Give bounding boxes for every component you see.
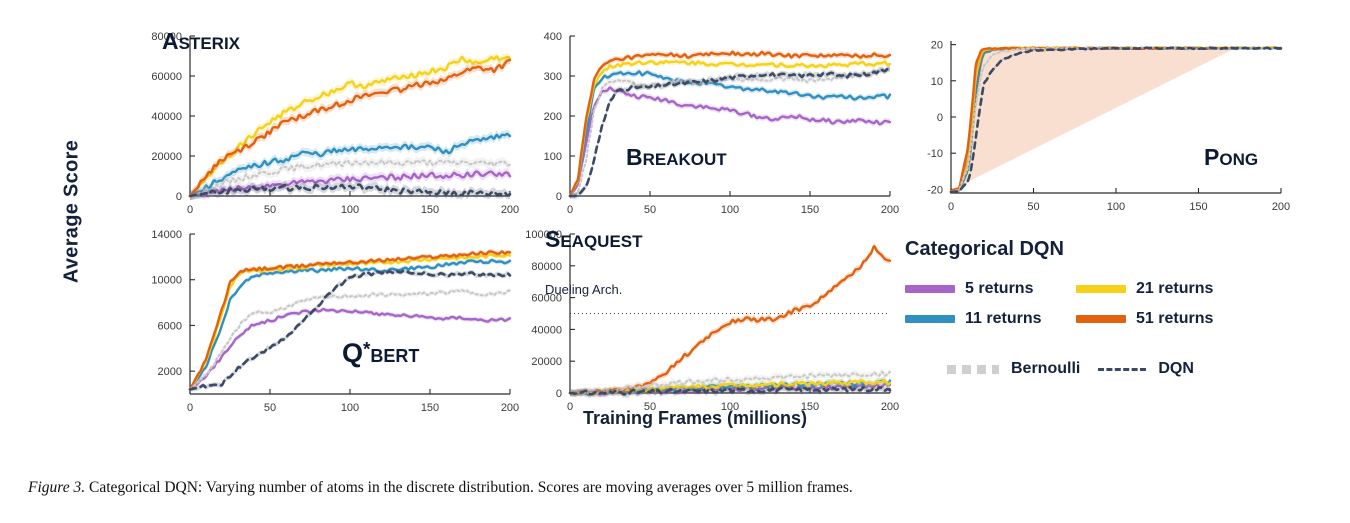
panel-title-seaquest: SEAQUEST [545,228,643,251]
legend-swatch-bernoulli [947,365,999,374]
svg-text:100: 100 [341,402,359,414]
svg-text:0: 0 [567,204,573,216]
chart-panel-qbert: 200060001000014000050100150200 [142,226,522,420]
svg-text:50: 50 [264,204,276,216]
legend-label-dqn: DQN [1158,360,1194,378]
svg-text:100: 100 [1107,201,1125,213]
svg-text:0: 0 [187,402,193,414]
svg-text:150: 150 [1189,201,1207,213]
legend-item-21-returns[interactable]: 21 returns [1076,280,1194,298]
svg-text:300: 300 [544,71,562,83]
legend-swatch-21-returns [1076,285,1126,293]
svg-text:200: 200 [501,204,519,216]
svg-text:100: 100 [721,204,739,216]
legend-entries: 5 returns 21 returns 11 returns 51 retur… [905,274,1305,334]
legend-swatch-51-returns [1076,315,1126,323]
legend-label-21-returns: 21 returns [1136,280,1213,298]
confidence-band [570,85,890,199]
svg-text:200: 200 [881,204,899,216]
chart-panel-asterix: 020000400006000080000050100150200 [142,28,522,222]
svg-text:14000: 14000 [151,229,182,241]
svg-text:10: 10 [931,76,943,88]
svg-text:20000: 20000 [151,151,182,163]
legend-title: Categorical DQN [905,238,1305,261]
panel-title-asterix: ASTERIX [162,30,240,53]
svg-text:80000: 80000 [531,261,562,273]
panel-title-pong: PONG [1204,146,1258,169]
chart-panel-pong: -20-1001020050100150200 [903,33,1293,219]
legend-baselines: Bernoulli DQN [947,360,1305,378]
caption-body: Categorical DQN: Varying number of atoms… [85,479,853,496]
chart-svg-pong: -20-1001020050100150200 [903,33,1293,219]
legend-label-11-returns: 11 returns [965,310,1041,328]
svg-text:100: 100 [341,204,359,216]
figure-caption: Figure 3. Categorical DQN: Varying numbe… [28,478,1328,498]
svg-text:20: 20 [931,40,943,52]
svg-text:10000: 10000 [151,275,182,287]
svg-text:-20: -20 [927,184,943,196]
legend-swatch-dqn [1098,368,1146,371]
svg-text:0: 0 [948,201,954,213]
legend-label-5-returns: 5 returns [965,280,1033,298]
legend-swatch-11-returns [905,315,955,323]
svg-text:200: 200 [501,402,519,414]
panel-title-qbert: Q*BERT [342,340,419,367]
svg-text:60000: 60000 [151,71,182,83]
svg-text:6000: 6000 [158,320,182,332]
svg-text:100: 100 [544,151,562,163]
legend: Categorical DQN 5 returns 21 returns 11 … [905,238,1305,378]
legend-label-bernoulli: Bernoulli [1011,360,1080,378]
chart-svg-breakout: 0100200300400050100150200 [522,28,902,222]
figure-3: Average Score 02000040000600008000005010… [0,0,1350,523]
svg-text:50: 50 [264,402,276,414]
legend-label-51-returns: 51 returns [1136,310,1213,328]
chart-panel-breakout: 0100200300400050100150200 [522,28,902,222]
legend-item-5-returns[interactable]: 5 returns [905,280,1023,298]
svg-text:200: 200 [881,401,899,413]
panel-title-breakout: BREAKOUT [626,146,727,169]
series-line-5-returns [570,88,890,196]
svg-text:0: 0 [187,204,193,216]
svg-text:200: 200 [544,111,562,123]
chart-panel-seaquest: 020000400006000080000100000050100150200 [522,226,902,419]
svg-text:50: 50 [644,204,656,216]
chart-svg-asterix: 020000400006000080000050100150200 [142,28,522,222]
x-axis-label: Training Frames (millions) [520,408,870,429]
svg-text:50: 50 [1027,201,1039,213]
svg-text:2000: 2000 [158,366,182,378]
svg-text:0: 0 [176,191,182,203]
svg-text:400: 400 [544,31,562,43]
dueling-arch-annotation: Dueling Arch. [545,282,622,297]
legend-item-11-returns[interactable]: 11 returns [905,310,1023,328]
svg-text:40000: 40000 [531,324,562,336]
svg-text:0: 0 [556,388,562,400]
series-line-51-returns [570,246,890,393]
y-axis-label: Average Score [61,82,84,342]
chart-svg-seaquest: 020000400006000080000100000050100150200 [522,226,902,419]
svg-text:150: 150 [421,204,439,216]
svg-text:150: 150 [421,402,439,414]
chart-svg-qbert: 200060001000014000050100150200 [142,226,522,420]
svg-text:0: 0 [937,112,943,124]
svg-text:40000: 40000 [151,111,182,123]
svg-text:150: 150 [801,204,819,216]
svg-text:200: 200 [1272,201,1290,213]
svg-text:0: 0 [556,191,562,203]
svg-text:-10: -10 [927,148,943,160]
legend-item-51-returns[interactable]: 51 returns [1076,310,1194,328]
svg-text:20000: 20000 [531,356,562,368]
caption-figure-number: Figure 3. [28,479,85,496]
legend-swatch-5-returns [905,285,955,293]
